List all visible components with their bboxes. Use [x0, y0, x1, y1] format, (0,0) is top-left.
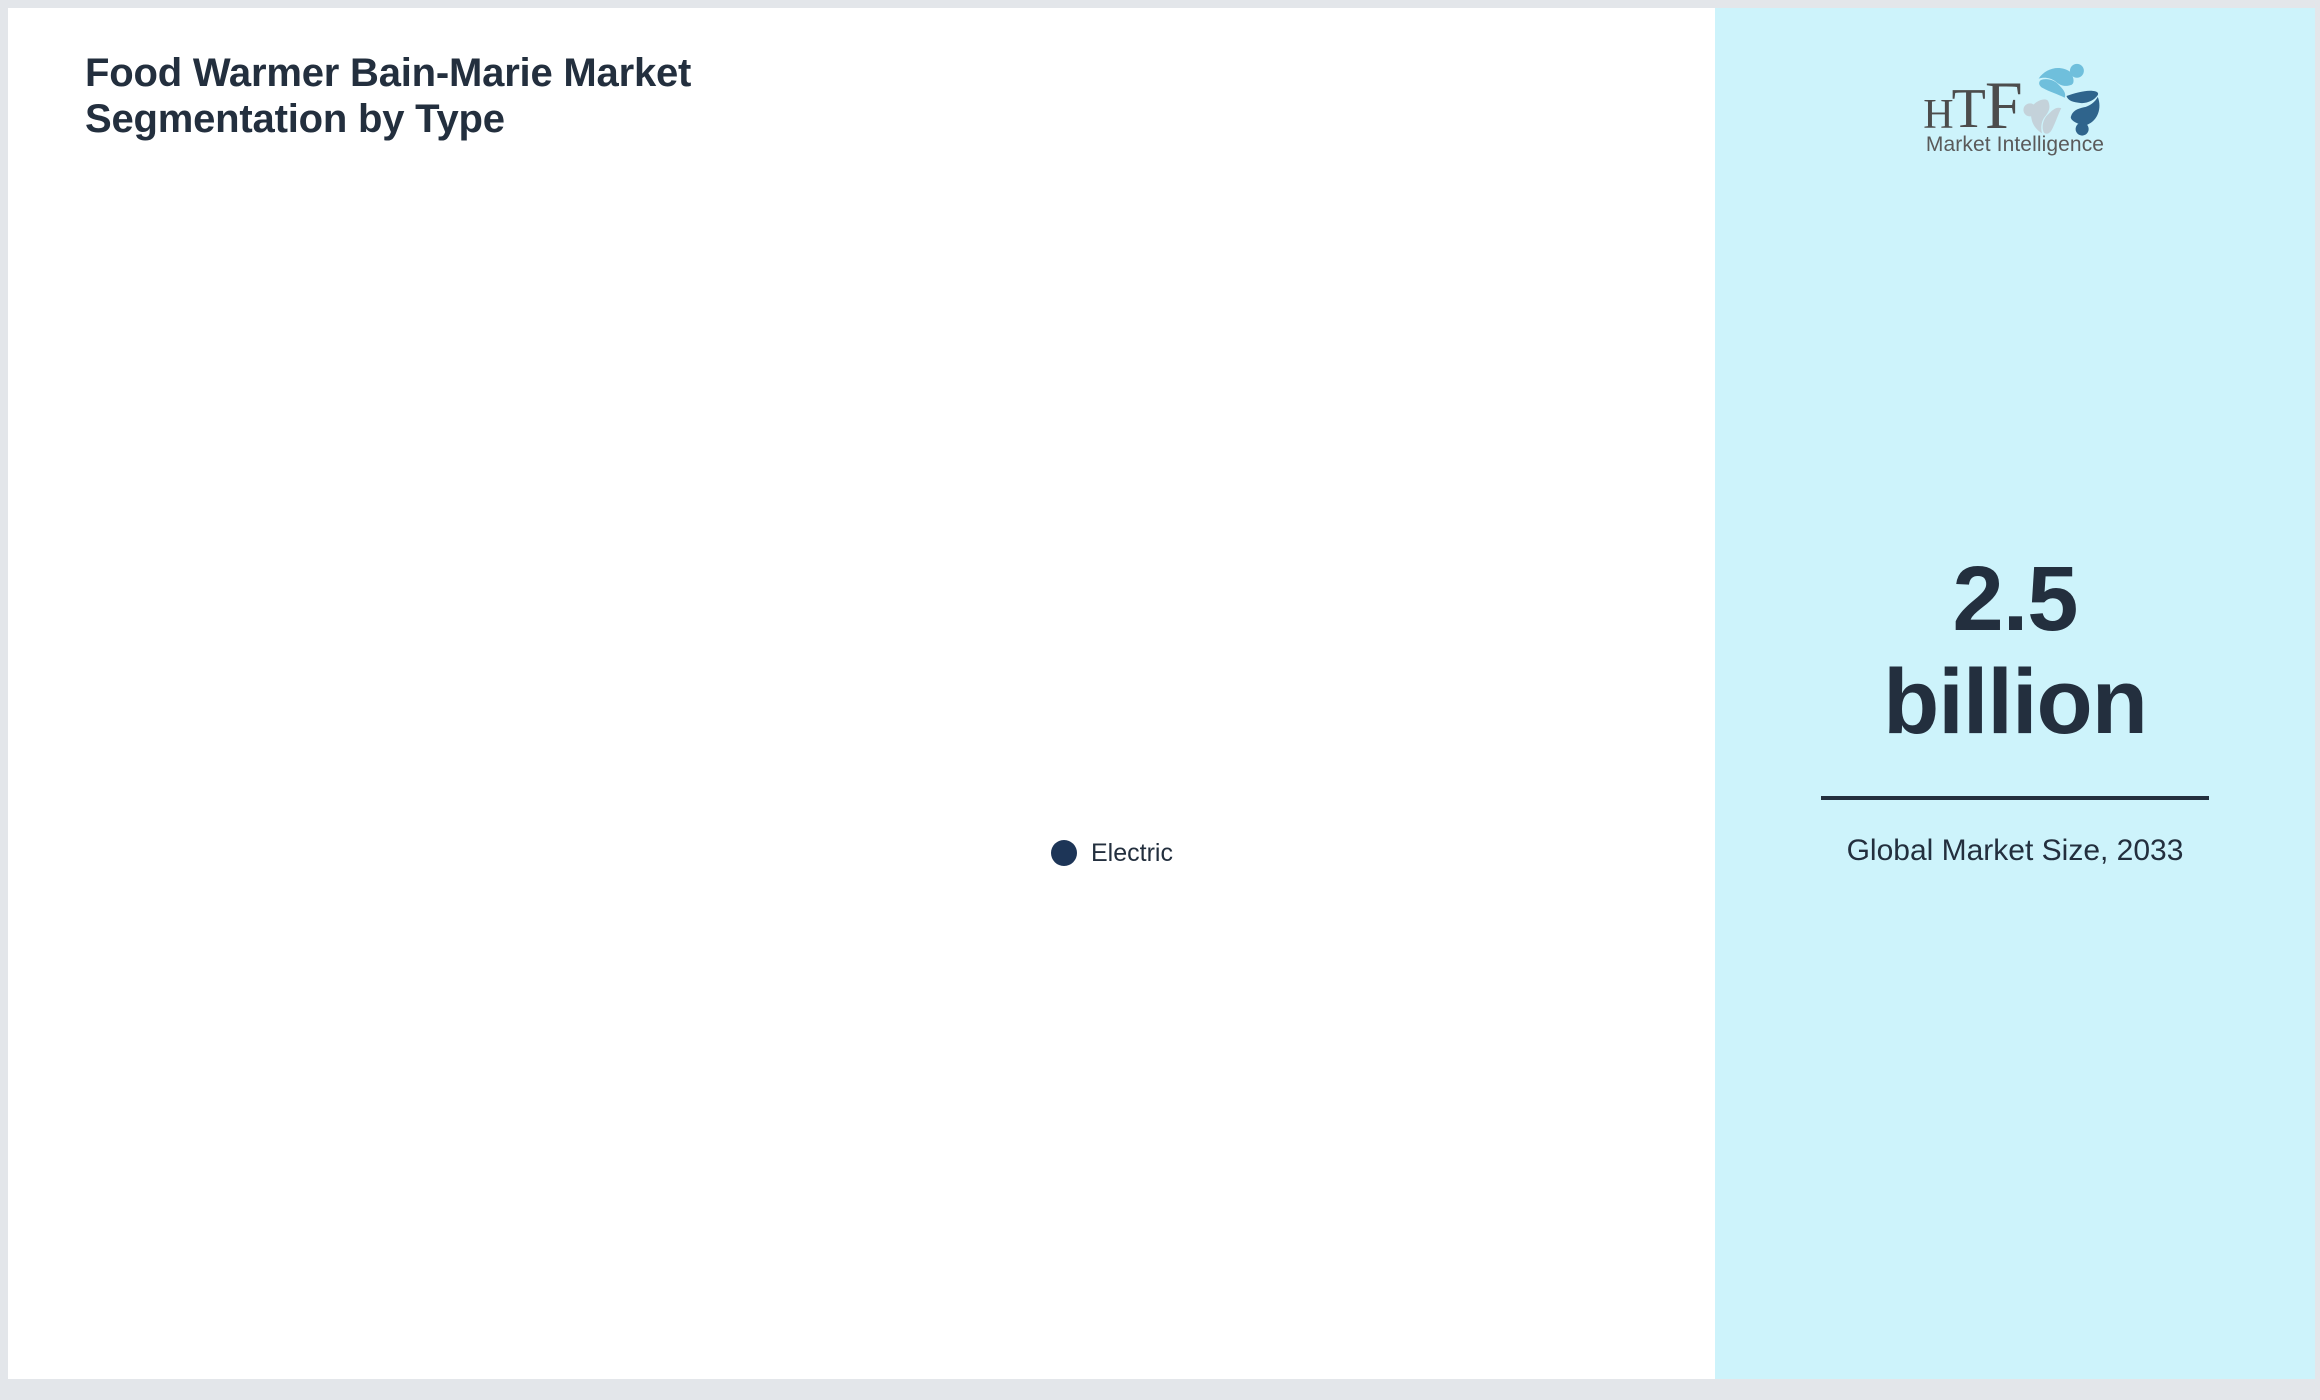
chart-legend: Electric: [1051, 840, 1173, 866]
brand-logo: H T F: [1715, 60, 2315, 155]
stat-value: 2.5 billion: [1883, 548, 2147, 754]
logo-row: H T F: [1923, 60, 2106, 132]
stat-divider: [1821, 796, 2209, 800]
legend-item-electric[interactable]: Electric: [1051, 840, 1173, 866]
page-title: Food Warmer Bain-Marie Market Segmentati…: [85, 50, 1085, 143]
logo-wordmark: H T F: [1923, 79, 2022, 132]
stat-caption: Global Market Size, 2033: [1845, 834, 2185, 868]
pie-chart-plot-area: Electric: [8, 158, 1715, 1379]
logo-letter-f: F: [1985, 79, 2023, 132]
stat-block: 2.5 billion Global Market Size, 2033: [1715, 548, 2315, 868]
logo-tagline: Market Intelligence: [1926, 134, 2104, 155]
three-figures-triskelion-icon: [2019, 56, 2107, 136]
legend-item-label: Electric: [1091, 841, 1173, 866]
legend-swatch-icon: [1051, 840, 1077, 866]
logo-letter-t: T: [1952, 88, 1986, 132]
logo-letter-h: H: [1923, 99, 1953, 132]
stat-sidebar: H T F: [1715, 8, 2315, 1379]
report-page: Food Warmer Bain-Marie Market Segmentati…: [8, 8, 2315, 1379]
chart-panel: Food Warmer Bain-Marie Market Segmentati…: [8, 8, 1715, 1379]
